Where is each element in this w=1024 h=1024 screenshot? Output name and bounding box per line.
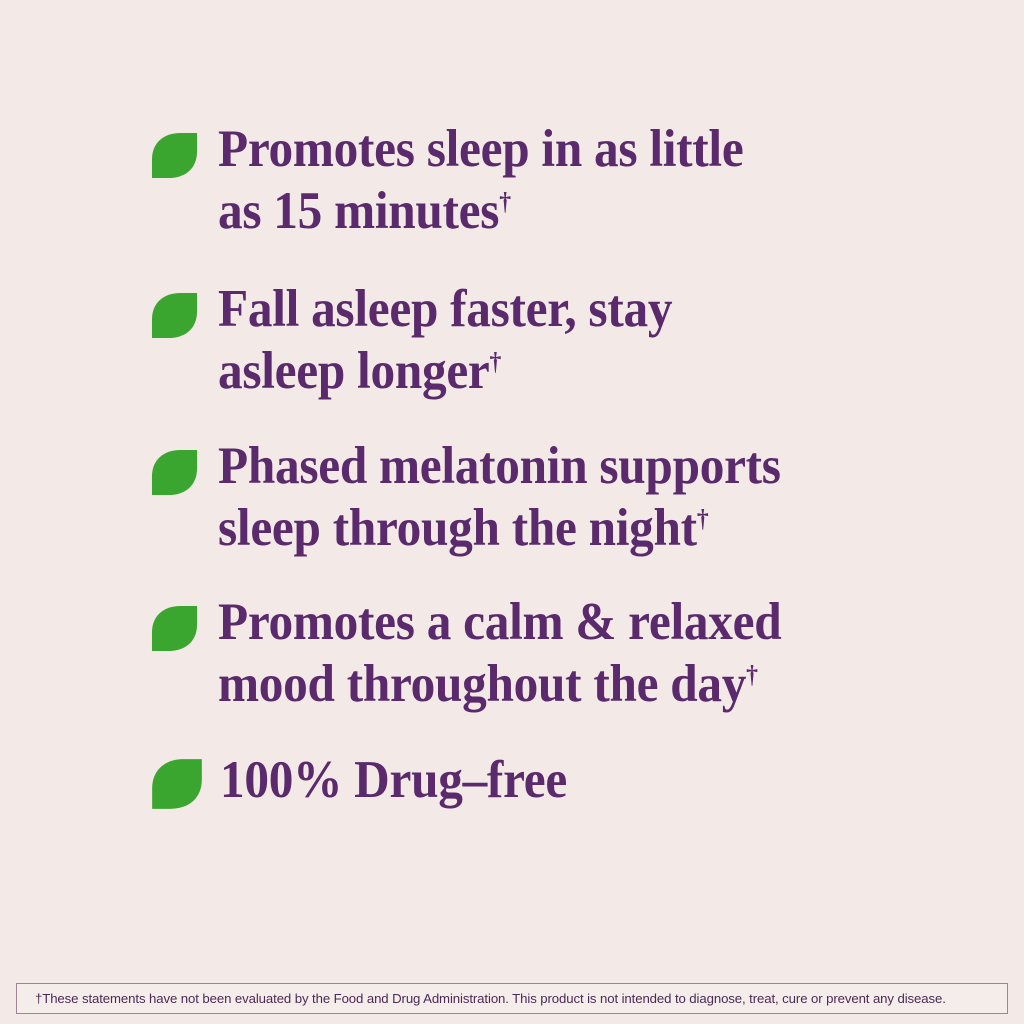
- benefit-item-fall-asleep-faster: Fall asleep faster, stayasleep longer†: [150, 278, 910, 402]
- benefit-text: Promotes a calm & relaxedmood throughout…: [218, 591, 781, 715]
- benefit-line-2: mood throughout the day: [218, 655, 746, 713]
- benefit-text: Fall asleep faster, stayasleep longer†: [218, 278, 672, 402]
- benefit-line-2: asleep longer: [218, 342, 490, 400]
- benefit-item-promotes-sleep-15-minutes: Promotes sleep in as littleas 15 minutes…: [150, 118, 910, 242]
- benefit-item-calm-relaxed-mood: Promotes a calm & relaxedmood throughout…: [150, 591, 910, 715]
- footnote-disclaimer-box: †These statements have not been evaluate…: [16, 983, 1008, 1014]
- benefit-line-1: Promotes sleep in as little: [218, 120, 743, 178]
- benefit-item-phased-melatonin: Phased melatonin supportssleep through t…: [150, 435, 910, 559]
- benefit-text: Promotes sleep in as littleas 15 minutes…: [218, 118, 743, 242]
- dagger-marker: †: [490, 346, 502, 375]
- leaf-icon: [150, 604, 199, 653]
- benefit-text: 100% Drug–free: [220, 749, 567, 811]
- benefit-line-1: Promotes a calm & relaxed: [218, 593, 781, 651]
- leaf-icon: [150, 131, 199, 180]
- benefit-line-1: Phased melatonin supports: [218, 437, 781, 495]
- leaf-icon: [150, 757, 204, 811]
- benefit-line-2: as 15 minutes: [218, 182, 499, 240]
- footnote-body: These statements have not been evaluated…: [42, 991, 946, 1006]
- leaf-icon: [150, 291, 199, 340]
- benefits-panel: Promotes sleep in as littleas 15 minutes…: [0, 0, 1024, 1024]
- benefit-line-2: sleep through the night: [218, 499, 697, 557]
- footnote-text: †These statements have not been evaluate…: [35, 992, 946, 1005]
- dagger-marker: †: [499, 186, 511, 215]
- dagger-marker: †: [746, 659, 758, 688]
- benefits-list: Promotes sleep in as littleas 15 minutes…: [150, 118, 910, 811]
- dagger-marker: †: [697, 503, 709, 532]
- benefit-text: Phased melatonin supportssleep through t…: [218, 435, 781, 559]
- benefit-line-1: 100% Drug–free: [220, 751, 567, 809]
- benefit-item-drug-free: 100% Drug–free: [150, 749, 910, 811]
- leaf-icon: [150, 448, 199, 497]
- benefit-line-1: Fall asleep faster, stay: [218, 280, 672, 338]
